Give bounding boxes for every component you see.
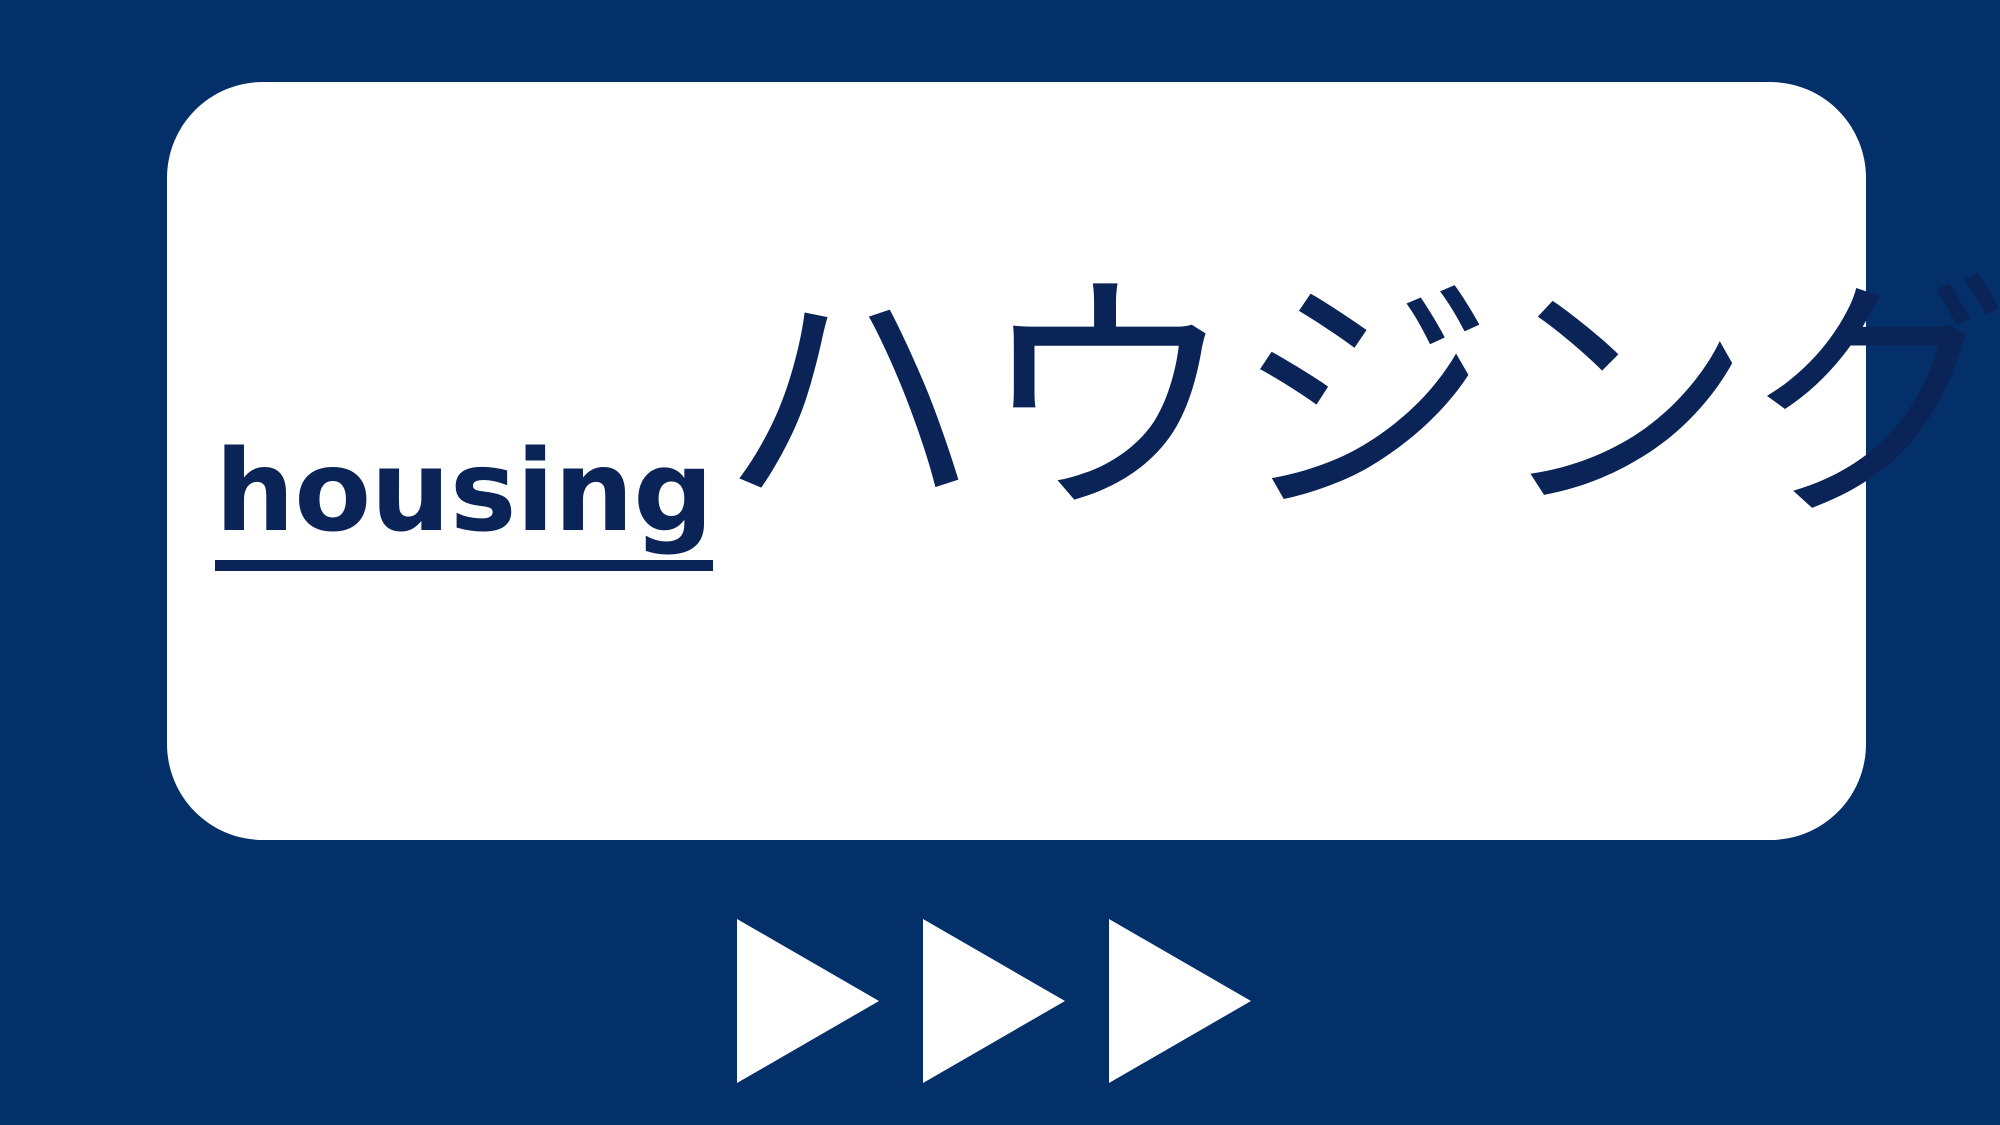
- play-triangle-icon[interactable]: [923, 919, 1065, 1083]
- vocabulary-card: housing ハウジング: [167, 82, 1866, 840]
- english-reading-text: housing: [215, 436, 713, 571]
- slide-root: housing ハウジング: [0, 0, 2000, 1125]
- katakana-term-text: ハウジング: [720, 257, 2000, 546]
- advance-arrows[interactable]: [737, 918, 1251, 1083]
- play-triangle-icon[interactable]: [737, 919, 879, 1083]
- play-triangle-icon[interactable]: [1109, 919, 1251, 1083]
- word-row: housing ハウジング: [167, 82, 1866, 840]
- reading-block: housing: [215, 436, 713, 571]
- term-block: ハウジング: [720, 257, 2000, 546]
